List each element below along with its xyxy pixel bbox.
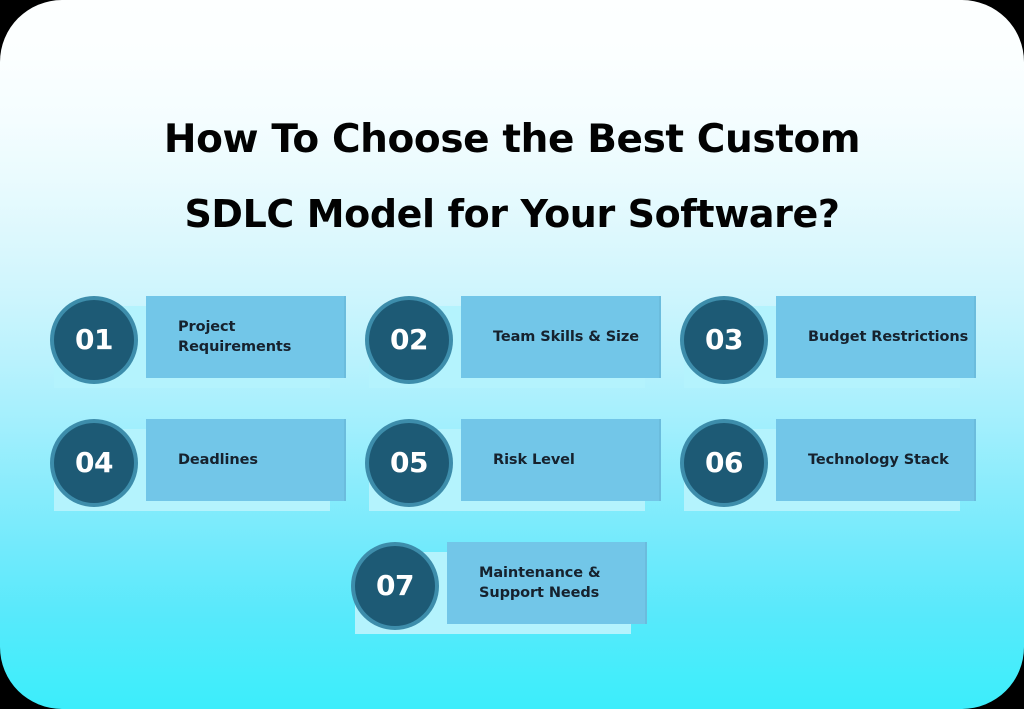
card-slot-4: Deadlines 04 [54,419,368,542]
card-number-badge: 05 [369,423,449,503]
factor-card[interactable]: Risk Level 05 [369,419,661,511]
card-number-badge: 01 [54,300,134,380]
card-bar: Deadlines [146,419,346,501]
page-title-line-1: How To Choose the Best Custom [0,102,1024,177]
card-slot-6: Technology Stack 06 [684,419,998,542]
factor-card[interactable]: Budget Restrictions 03 [684,296,976,388]
card-number: 02 [390,326,428,354]
card-number: 03 [705,326,743,354]
factor-card[interactable]: Technology Stack 06 [684,419,976,511]
card-number: 06 [705,449,743,477]
card-bar: Team Skills & Size [461,296,661,378]
card-label: Technology Stack [808,419,976,501]
page-title: How To Choose the Best Custom SDLC Model… [0,102,1024,252]
card-label: Budget Restrictions [808,296,976,378]
infographic-canvas: How To Choose the Best Custom SDLC Model… [0,0,1024,709]
factor-card[interactable]: Team Skills & Size 02 [369,296,661,388]
card-bar: Project Requirements [146,296,346,378]
factor-card[interactable]: Deadlines 04 [54,419,346,511]
card-number-badge: 02 [369,300,449,380]
card-label: Maintenance & Support Needs [479,542,647,624]
card-number-badge: 07 [355,546,435,626]
card-label: Risk Level [493,419,661,501]
card-bar: Risk Level [461,419,661,501]
card-slot-5: Risk Level 05 [369,419,683,542]
card-bar: Maintenance & Support Needs [447,542,647,624]
card-number-badge: 06 [684,423,764,503]
card-row-1: Project Requirements 01 Team Skills & Si… [0,296,1024,419]
card-bar: Budget Restrictions [776,296,976,378]
card-label: Deadlines [178,419,346,501]
factor-card[interactable]: Maintenance & Support Needs 07 [355,542,647,634]
card-slot-2: Team Skills & Size 02 [369,296,683,419]
card-slot-7: Maintenance & Support Needs 07 [355,542,669,665]
card-label: Team Skills & Size [493,296,661,378]
card-number: 07 [376,572,414,600]
card-number: 05 [390,449,428,477]
factor-card[interactable]: Project Requirements 01 [54,296,346,388]
card-row-2: Deadlines 04 Risk Level 05 [0,419,1024,542]
card-number: 04 [75,449,113,477]
card-number-badge: 03 [684,300,764,380]
card-row-3: Maintenance & Support Needs 07 [0,542,1024,665]
card-slot-1: Project Requirements 01 [54,296,368,419]
card-number-badge: 04 [54,423,134,503]
page-title-line-2: SDLC Model for Your Software? [0,177,1024,252]
card-slot-3: Budget Restrictions 03 [684,296,998,419]
card-label: Project Requirements [178,296,346,378]
factor-card-grid: Project Requirements 01 Team Skills & Si… [0,296,1024,665]
card-number: 01 [75,326,113,354]
card-bar: Technology Stack [776,419,976,501]
